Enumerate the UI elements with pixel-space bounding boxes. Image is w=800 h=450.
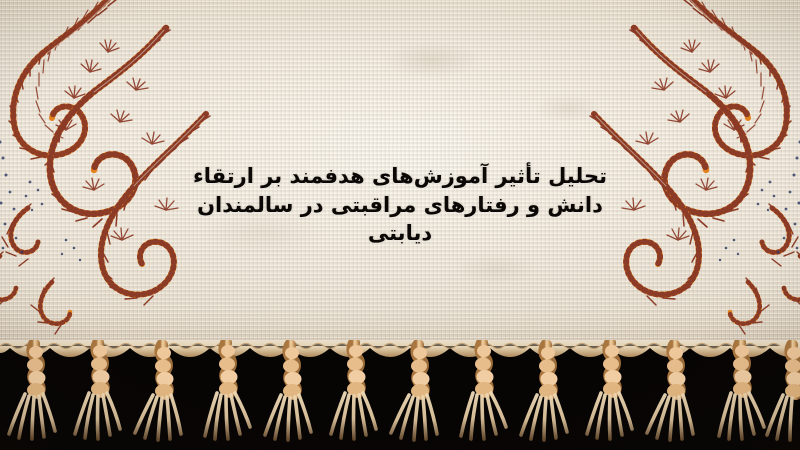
page-title: تحلیل تأثیر آموزش‌های هدفمند بر ارتقاء د…	[165, 162, 635, 248]
title-line-3: دیابتی	[165, 219, 635, 248]
title-line-1: تحلیل تأثیر آموزش‌های هدفمند بر ارتقاء	[165, 162, 635, 191]
tassel-fringe	[0, 340, 800, 450]
slide-canvas: تحلیل تأثیر آموزش‌های هدفمند بر ارتقاء د…	[0, 0, 800, 450]
title-line-2: دانش و رفتارهای مراقبتی در سالمندان	[165, 191, 635, 220]
